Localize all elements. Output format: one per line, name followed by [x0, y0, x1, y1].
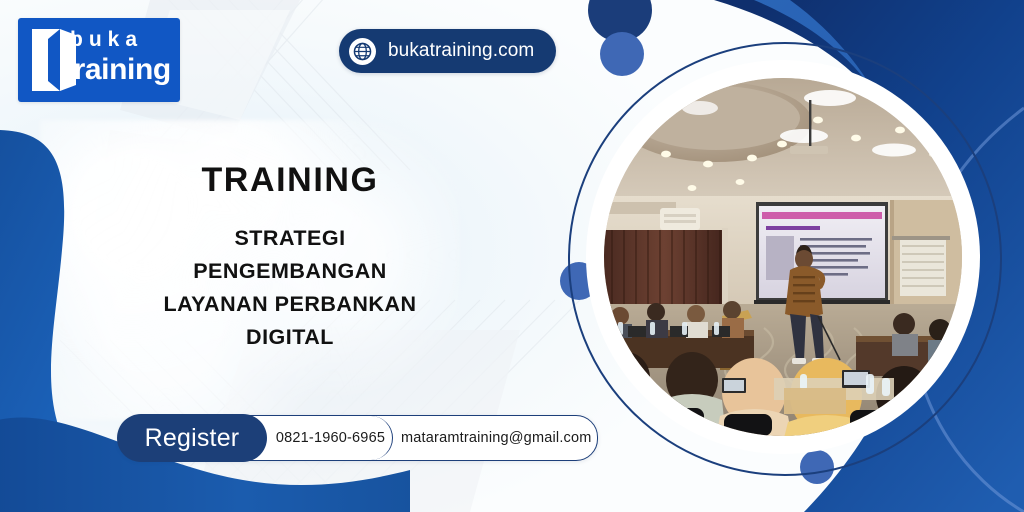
logo-wordmark: buka training [64, 28, 176, 86]
register-phone[interactable]: 0821-1960-6965 [269, 416, 393, 460]
logo-line-training: training [64, 54, 176, 86]
register-email[interactable]: mataramtraining@gmail.com [401, 416, 592, 460]
globe-icon [349, 38, 376, 65]
page-title-eyebrow: TRAINING [60, 160, 520, 200]
register-button[interactable]: Register [117, 414, 267, 462]
subtitle-line-3: LAYANAN PERBANKAN [60, 288, 520, 321]
brand-logo[interactable]: buka training [18, 18, 180, 102]
logo-line-buka: buka [64, 28, 176, 52]
subtitle-line-2: PENGEMBANGAN [60, 255, 520, 288]
website-pill[interactable]: bukatraining.com [339, 29, 556, 73]
website-label: bukatraining.com [388, 40, 534, 62]
decorative-dot-blue-top [600, 32, 644, 76]
subtitle-line-4: DIGITAL [60, 321, 520, 354]
page-subtitle: STRATEGI PENGEMBANGAN LAYANAN PERBANKAN … [60, 222, 520, 354]
promo-poster: buka training bukatraining.com TRAINING … [0, 0, 1024, 512]
title-block: TRAINING STRATEGI PENGEMBANGAN LAYANAN P… [60, 160, 520, 354]
subtitle-line-1: STRATEGI [60, 222, 520, 255]
training-photo [604, 78, 962, 436]
register-bar: Register 0821-1960-6965 mataramtraining@… [118, 415, 598, 461]
